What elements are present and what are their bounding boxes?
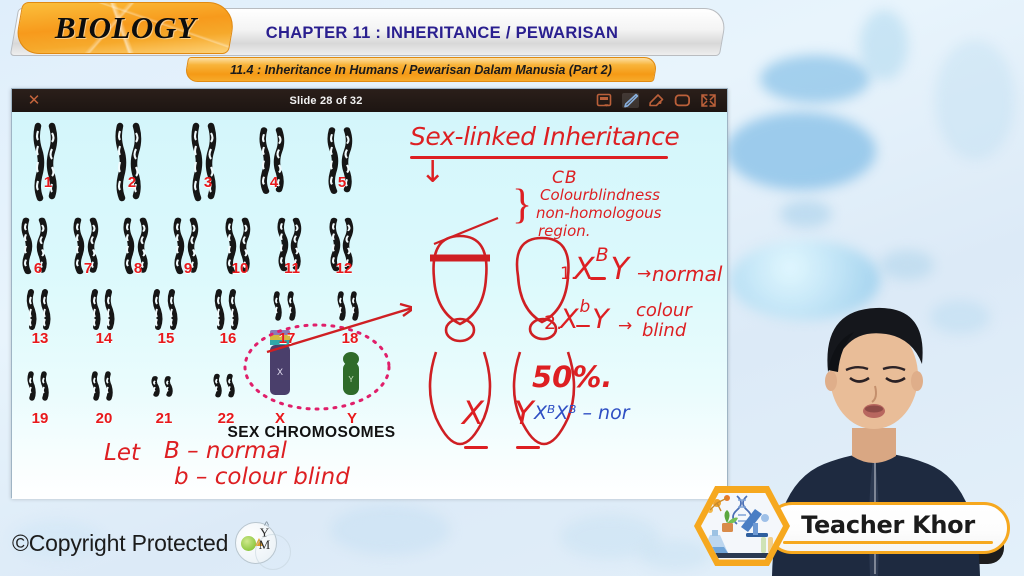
cross-x-annotation: X [462, 394, 484, 432]
subtitle-label: 11.4 : Inheritance In Humans / Pewarisan… [186, 57, 656, 82]
copyright-notice: ©Copyright Protected Y M [12, 522, 277, 564]
let-b-normal-annotation: B – normal [164, 438, 287, 464]
collapse-caret-icon[interactable]: ^ [264, 520, 269, 532]
close-x-icon[interactable]: ✕ [12, 93, 56, 108]
down-arrow-annotation: ↓ [420, 158, 445, 188]
case2-result-line1: colour [636, 300, 692, 321]
leaf-icon [241, 536, 256, 551]
case1-sup-underline [590, 277, 606, 280]
case1-arrow: → [637, 264, 651, 284]
eraser-tool-icon[interactable] [648, 93, 665, 108]
biology-logo: BIOLOGY [13, 2, 237, 54]
blue-genotype-note: XᴮXᴮ – nor [534, 402, 630, 424]
let-word-annotation: Let [104, 440, 140, 466]
percentage-annotation: 50%. [532, 360, 612, 394]
slide-viewer: ✕ Slide 28 of 32 [11, 88, 728, 498]
watermark-circle [255, 534, 291, 570]
tool-icon-group [596, 93, 727, 108]
copyright-text: ©Copyright Protected [12, 530, 228, 557]
whiteboard-canvas[interactable]: X Y 1 2 3 4 5 6 7 8 9 10 [12, 112, 727, 499]
pen-tool-icon[interactable] [622, 93, 639, 108]
case1-genotype: XBY [574, 252, 626, 287]
instructor-name: Teacher Khor [801, 511, 975, 539]
cross-x-blank [464, 446, 488, 449]
svg-text:X: X [277, 367, 283, 377]
page-header: CHAPTER 11 : INHERITANCE / PEWARISAN BIO… [0, 0, 740, 92]
svg-text:Y: Y [348, 375, 354, 384]
slide-counter: Slide 28 of 32 [56, 95, 596, 107]
collapse-icon[interactable] [700, 93, 717, 108]
badge-plate: Teacher Khor [766, 502, 1010, 554]
cb-abbrev-annotation: CB [552, 168, 578, 188]
instructor-name-badge: Teacher Khor [694, 482, 1014, 568]
case2-result-line2: blind [642, 320, 686, 341]
save-export-icon[interactable] [596, 93, 613, 108]
case2-genotype: XbY [560, 304, 606, 335]
science-lab-icon [694, 486, 790, 566]
let-b-colourblind-annotation: b – colour blind [174, 464, 350, 490]
annotation-title: Sex-linked Inheritance [410, 122, 679, 151]
slide-toolbar: ✕ Slide 28 of 32 [12, 89, 727, 112]
case1-result: normal [652, 262, 722, 286]
karyotype-diagram: X Y [12, 112, 412, 442]
shape-tool-icon[interactable] [674, 93, 691, 108]
cross-y-annotation: Y [514, 394, 534, 432]
logo-label: BIOLOGY [18, 2, 233, 54]
annotation-title-underline [410, 156, 668, 159]
page-title: CHAPTER 11 : INHERITANCE / PEWARISAN [232, 24, 652, 43]
cross-y-blank [516, 446, 540, 449]
case2-arrow: → [618, 316, 632, 336]
